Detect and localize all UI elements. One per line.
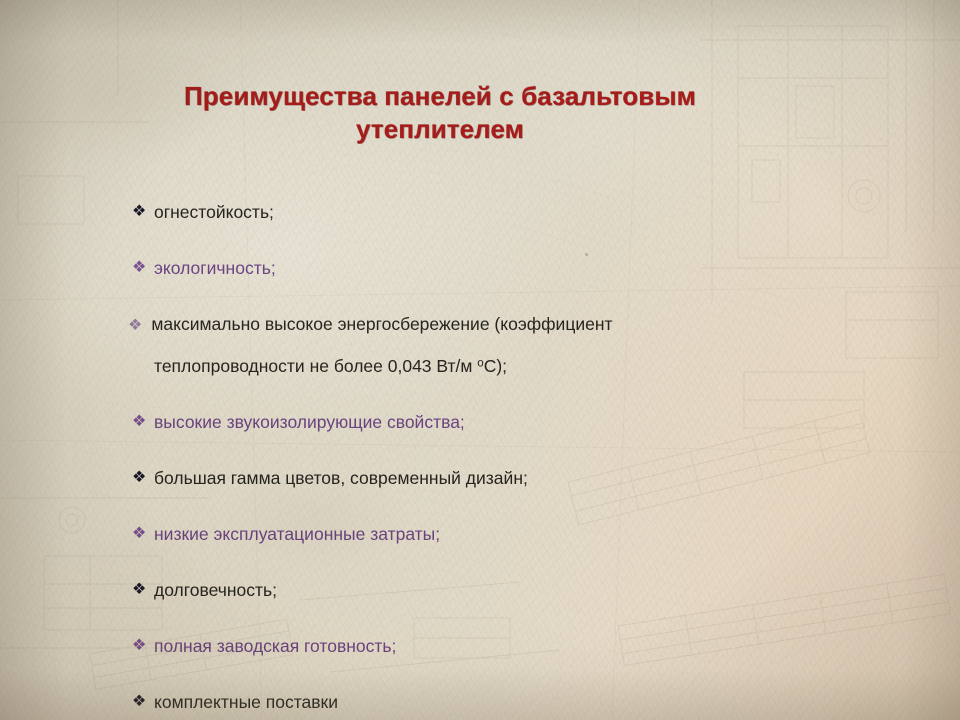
vignette-overlay — [0, 0, 960, 720]
slide-canvas: Преимущества панелей с базальтовым утепл… — [0, 0, 960, 720]
